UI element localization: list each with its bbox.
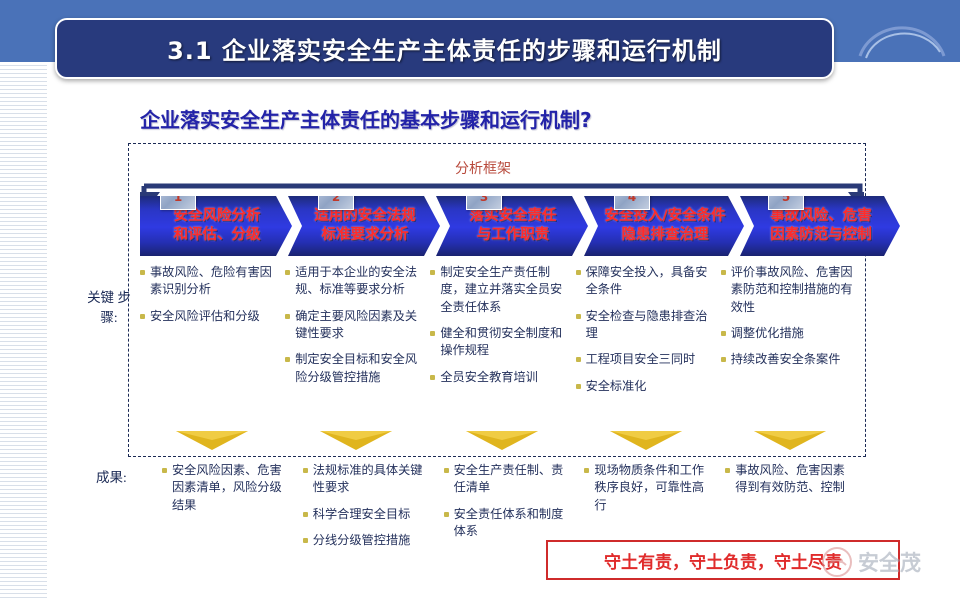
bullet-text: 安全风险评估和分级 xyxy=(150,308,260,325)
bullet-dot-icon xyxy=(444,468,449,473)
process-step-3-label: 落实安全责任 与工作职责 xyxy=(460,207,565,245)
process-step-1-label: 安全风险分析 和评估、分级 xyxy=(164,207,269,245)
process-step-4-label: 安全投入/安全条件 隐患排查治理 xyxy=(594,207,733,245)
list-item: 保障安全投入，具备安全条件 xyxy=(574,264,713,299)
list-item: 安全检查与隐患排查治理 xyxy=(574,308,713,343)
results-label: 成果: xyxy=(96,466,127,486)
slogan-banner: 守土有责，守土负责，守土尽责 xyxy=(546,540,900,580)
list-item: 安全标准化 xyxy=(574,378,713,395)
list-item: 工程项目安全三同时 xyxy=(574,351,713,368)
list-item: 科学合理安全目标 xyxy=(301,506,434,523)
bullet-dot-icon xyxy=(721,357,726,362)
process-step-2-label: 适用的安全法规 标准要求分析 xyxy=(304,207,424,245)
bullet-text: 安全标准化 xyxy=(586,378,647,395)
bullet-dot-icon xyxy=(444,512,449,517)
list-item: 制定安全生产责任制度，建立并落实全员安全责任体系 xyxy=(428,264,567,316)
bullet-dot-icon xyxy=(430,270,435,275)
step-1-bullets: 事故风险、危险有害因素识别分析 安全风险评估和分级 xyxy=(138,264,283,429)
bullet-dot-icon xyxy=(576,384,581,389)
list-item: 事故风险、危害因素得到有效防范、控制 xyxy=(723,462,856,497)
list-item: 适用于本企业的安全法规、标准等要求分析 xyxy=(283,264,422,299)
down-arrow-icon-1 xyxy=(176,430,248,450)
bullet-dot-icon xyxy=(576,270,581,275)
process-steps-row: 安全风险分析 和评估、分级 1 适用的安全法规 标准要求分析 2 落实安全责任 … xyxy=(140,196,864,258)
list-item: 法规标准的具体关键性要求 xyxy=(301,462,434,497)
bullet-dot-icon xyxy=(162,468,167,473)
bullet-dot-icon xyxy=(725,468,730,473)
bullet-text: 安全检查与隐患排查治理 xyxy=(586,308,713,343)
list-item: 分线分级管控措施 xyxy=(301,532,434,549)
bullet-text: 保障安全投入，具备安全条件 xyxy=(586,264,713,299)
bullet-dot-icon xyxy=(303,538,308,543)
step-3-bullets: 制定安全生产责任制度，建立并落实全员安全责任体系 健全和贯彻安全制度和操作规程 … xyxy=(428,264,573,429)
bullet-dot-icon xyxy=(140,314,145,319)
bullet-dot-icon xyxy=(721,270,726,275)
list-item: 事故风险、危险有害因素识别分析 xyxy=(138,264,277,299)
bullet-dot-icon xyxy=(303,468,308,473)
process-step-5[interactable]: 事故风险、危害 因素防范与控制 5 xyxy=(740,196,900,256)
down-arrow-icon-3 xyxy=(466,430,538,450)
process-step-4[interactable]: 安全投入/安全条件 隐患排查治理 4 xyxy=(584,196,744,256)
list-item: 确定主要风险因素及关键性要求 xyxy=(283,308,422,343)
bullet-dot-icon xyxy=(285,357,290,362)
bullet-dot-icon xyxy=(303,512,308,517)
bullet-dot-icon xyxy=(430,331,435,336)
list-item: 调整优化措施 xyxy=(719,325,858,342)
arc-decoration-icon xyxy=(856,2,948,60)
bullet-dot-icon xyxy=(576,314,581,319)
step-details-columns: 事故风险、危险有害因素识别分析 安全风险评估和分级 适用于本企业的安全法规、标准… xyxy=(138,264,864,429)
slogan-text: 守土有责，守土负责，守土尽责 xyxy=(604,548,842,573)
key-steps-label: 关键 步骤: xyxy=(86,288,132,329)
list-item: 安全风险评估和分级 xyxy=(138,308,277,325)
down-arrow-row xyxy=(138,430,864,452)
list-item: 持续改善安全条案件 xyxy=(719,351,858,368)
step-4-bullets: 保障安全投入，具备安全条件 安全检查与隐患排查治理 工程项目安全三同时 安全标准… xyxy=(574,264,719,429)
list-item: 现场物质条件和工作秩序良好，可靠性高行 xyxy=(582,462,715,514)
bullet-text: 事故风险、危险有害因素识别分析 xyxy=(150,264,277,299)
bullet-dot-icon xyxy=(140,270,145,275)
bullet-text: 制定安全生产责任制度，建立并落实全员安全责任体系 xyxy=(440,264,567,316)
left-stripe-decoration xyxy=(0,62,47,601)
bullet-dot-icon xyxy=(285,270,290,275)
outcome-text: 现场物质条件和工作秩序良好，可靠性高行 xyxy=(594,462,715,514)
outcome-text: 事故风险、危害因素得到有效防范、控制 xyxy=(735,462,856,497)
bullet-text: 确定主要风险因素及关键性要求 xyxy=(295,308,422,343)
outcome-text: 科学合理安全目标 xyxy=(313,506,411,523)
outcome-text: 安全生产责任制、责任清单 xyxy=(454,462,575,497)
step-5-bullets: 评价事故风险、危害因素防范和控制措施的有效性 调整优化措施 持续改善安全条案件 xyxy=(719,264,864,429)
bullet-dot-icon xyxy=(285,314,290,319)
list-item: 安全风险因素、危害因素清单，风险分级结果 xyxy=(160,462,293,514)
bullet-text: 工程项目安全三同时 xyxy=(586,351,696,368)
outcome-text: 法规标准的具体关键性要求 xyxy=(313,462,434,497)
slide-canvas: 3.1 企业落实安全生产主体责任的步骤和运行机制 企业落实安全生产主体责任的基本… xyxy=(0,0,960,601)
outcome-1: 安全风险因素、危害因素清单，风险分级结果 xyxy=(160,462,301,587)
bullet-text: 持续改善安全条案件 xyxy=(731,351,841,368)
step-2-bullets: 适用于本企业的安全法规、标准等要求分析 确定主要风险因素及关键性要求 制定安全目… xyxy=(283,264,428,429)
bullet-text: 评价事故风险、危害因素防范和控制措施的有效性 xyxy=(731,264,858,316)
bullet-text: 全员安全教育培训 xyxy=(440,369,538,386)
process-step-3[interactable]: 落实安全责任 与工作职责 3 xyxy=(436,196,588,256)
down-arrow-icon-4 xyxy=(610,430,682,450)
list-item: 健全和贯彻安全制度和操作规程 xyxy=(428,325,567,360)
list-item: 安全责任体系和制度体系 xyxy=(442,506,575,541)
bullet-dot-icon xyxy=(430,375,435,380)
bullet-text: 健全和贯彻安全制度和操作规程 xyxy=(440,325,567,360)
process-step-2[interactable]: 适用的安全法规 标准要求分析 2 xyxy=(288,196,440,256)
bullet-dot-icon xyxy=(721,331,726,336)
down-arrow-icon-2 xyxy=(320,430,392,450)
list-item: 安全生产责任制、责任清单 xyxy=(442,462,575,497)
slide-subtitle: 企业落实安全生产主体责任的基本步骤和运行机制? xyxy=(140,104,592,133)
framework-label: 分析框架 xyxy=(455,158,511,178)
list-item: 评价事故风险、危害因素防范和控制措施的有效性 xyxy=(719,264,858,316)
slide-title-bar: 3.1 企业落实安全生产主体责任的步骤和运行机制 xyxy=(55,18,834,79)
outcome-text: 分线分级管控措施 xyxy=(313,532,411,549)
list-item: 制定安全目标和安全风险分级管控措施 xyxy=(283,351,422,386)
bullet-dot-icon xyxy=(584,468,589,473)
process-step-1[interactable]: 安全风险分析 和评估、分级 1 xyxy=(140,196,292,256)
bullet-text: 调整优化措施 xyxy=(731,325,804,342)
outcome-text: 安全风险因素、危害因素清单，风险分级结果 xyxy=(172,462,293,514)
outcome-2: 法规标准的具体关键性要求 科学合理安全目标 分线分级管控措施 xyxy=(301,462,442,587)
bullet-text: 制定安全目标和安全风险分级管控措施 xyxy=(295,351,422,386)
bullet-text: 适用于本企业的安全法规、标准等要求分析 xyxy=(295,264,422,299)
outcome-text: 安全责任体系和制度体系 xyxy=(454,506,575,541)
list-item: 全员安全教育培训 xyxy=(428,369,567,386)
page-title: 3.1 企业落实安全生产主体责任的步骤和运行机制 xyxy=(167,31,722,66)
down-arrow-icon-5 xyxy=(754,430,826,450)
bullet-dot-icon xyxy=(576,357,581,362)
process-step-5-label: 事故风险、危害 因素防范与控制 xyxy=(760,207,880,245)
